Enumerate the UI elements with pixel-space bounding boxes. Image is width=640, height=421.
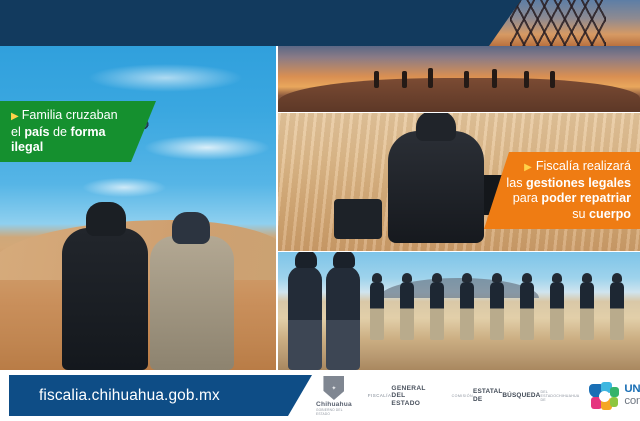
header-bar <box>0 0 521 46</box>
callout-family-illegal-crossing: ▶Familia cruzabanel país de formailegal <box>0 101 156 162</box>
callout-fiscalia-repatriation: ▶Fiscalía realizarálas gestiones legales… <box>484 152 640 229</box>
person-silhouette <box>550 71 555 88</box>
photo-officers-briefing-line <box>278 252 640 370</box>
chihuahua-government-logo: ✦ Chihuahua GOBIERNO DEL ESTADO <box>316 376 352 416</box>
unidos-con-valor-text: UNIDOS conVALOR <box>624 384 640 407</box>
operator-figure <box>388 131 484 243</box>
comision-logo-line5: CHIHUAHUA <box>556 394 579 398</box>
foreground-officer <box>326 266 360 370</box>
equipment-case <box>334 199 382 239</box>
officer-figure <box>62 228 148 370</box>
photo-officers-drone-desert <box>0 38 276 370</box>
news-graphic-card: Comisión de Búsqueda y FEM recuperan cue… <box>0 0 640 421</box>
footer: fiscalia.chihuahua.gob.mx ✦ Chihuahua GO… <box>0 370 640 421</box>
transmission-tower <box>510 0 606 46</box>
ridge-shape <box>278 78 640 112</box>
convalor-word: conVALOR <box>624 396 640 408</box>
chihuahua-logo-title: Chihuahua <box>316 401 352 408</box>
person-silhouette <box>492 69 497 88</box>
triangle-right-icon: ▶ <box>524 162 532 173</box>
photo-search-team-ridge-sunset <box>278 38 640 112</box>
foreground-officer <box>288 266 322 370</box>
person-silhouette <box>524 71 529 88</box>
person-silhouette <box>374 71 379 88</box>
triangle-right-icon: ▶ <box>11 111 19 122</box>
website-url-bar[interactable]: fiscalia.chihuahua.gob.mx <box>9 375 312 416</box>
comision-logo-line3: BÚSQUEDA <box>502 392 540 400</box>
fiscalia-logo-line2: GENERAL DEL ESTADO <box>391 385 425 408</box>
logo-strip: ✦ Chihuahua GOBIERNO DEL ESTADO FISCALÍA… <box>316 374 636 418</box>
person-silhouette <box>402 71 407 88</box>
person-silhouette <box>464 71 469 88</box>
officer-figure <box>150 236 234 370</box>
officer-line <box>370 282 630 344</box>
state-shape-icon <box>589 382 620 411</box>
fiscalia-general-logo: FISCALÍA GENERAL DEL ESTADO <box>368 385 426 408</box>
comision-logo-line2: ESTATAL DE <box>473 388 502 403</box>
website-url: fiscalia.chihuahua.gob.mx <box>39 387 220 405</box>
comision-logo-line1: COMISIÓN <box>452 394 473 398</box>
comision-logo-line4: DEL ESTADO DE <box>541 390 557 403</box>
unidos-con-valor-logo: UNIDOS conVALOR <box>589 382 640 411</box>
fiscalia-logo-line1: FISCALÍA <box>368 393 392 398</box>
comision-busqueda-logo: COMISIÓN ESTATAL DE BÚSQUEDA DEL ESTADO … <box>452 388 580 403</box>
person-silhouette <box>428 68 433 88</box>
chihuahua-logo-subtitle: GOBIERNO DEL ESTADO <box>316 408 352 416</box>
shield-icon: ✦ <box>323 376 344 400</box>
